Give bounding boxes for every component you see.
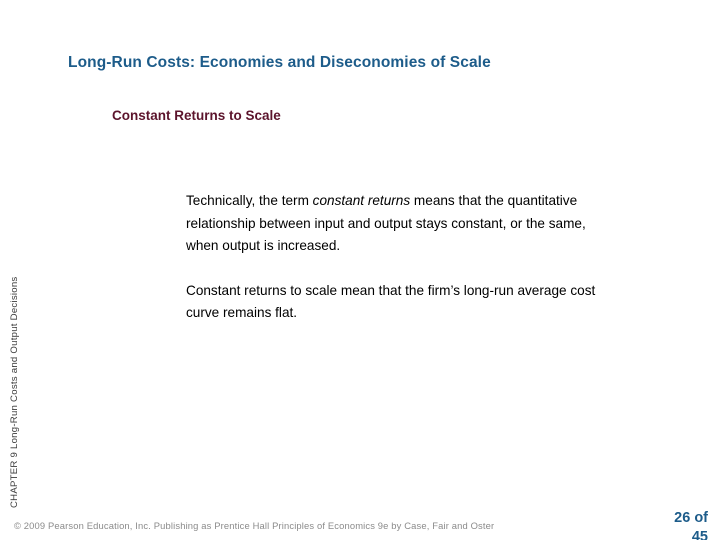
body-paragraph-2: Constant returns to scale mean that the … [186,280,598,325]
page-indicator-current: 26 of [628,509,708,528]
chapter-rail-label: CHAPTER 9 Long-Run Costs and Output Deci… [7,168,23,508]
slide-canvas: Long-Run Costs: Economies and Diseconomi… [0,0,720,540]
page-indicator: 26 of 45 [628,509,708,540]
section-heading: Constant Returns to Scale [112,107,632,125]
footer-copyright: © 2009 Pearson Education, Inc. Publishin… [14,519,494,532]
body-paragraph-1: Technically, the term constant returns m… [186,190,598,258]
body-content: Technically, the term constant returns m… [186,190,598,325]
page-title: Long-Run Costs: Economies and Diseconomi… [68,53,668,73]
paragraph-1-lead-text: Technically, the term [186,193,313,208]
page-indicator-total: 45 [628,528,708,540]
paragraph-1-emphasized-term: constant returns [313,193,410,208]
